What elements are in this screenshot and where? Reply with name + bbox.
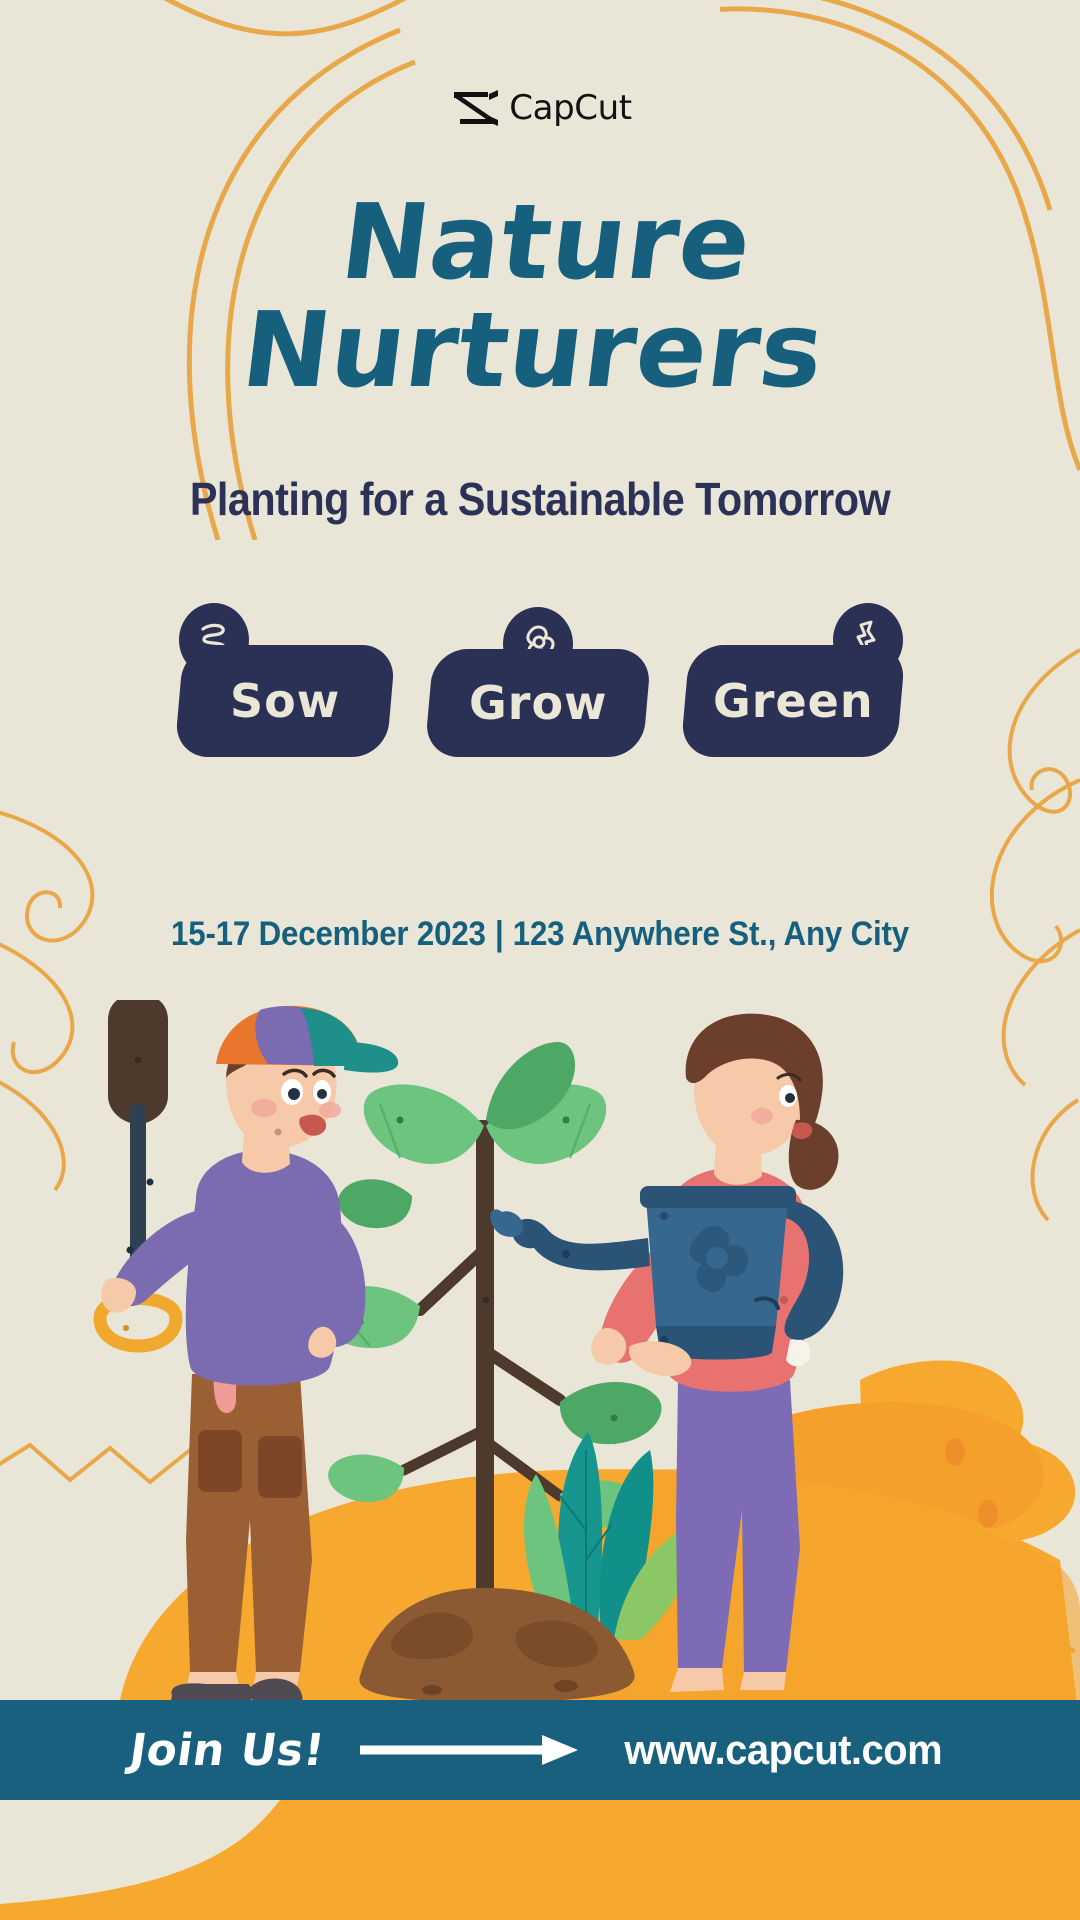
brand-logo-text: CapCut <box>509 88 631 128</box>
feature-pill-grow-label: Grow <box>469 676 608 730</box>
page-title: Nature Nurturers <box>0 192 1080 402</box>
brand-logo: CapCut <box>0 88 1080 128</box>
headline-line-2: Nurturers <box>0 300 1080 402</box>
event-details: 15-17 December 2023|123 Anywhere St., An… <box>43 915 1037 954</box>
event-separator: | <box>486 915 513 953</box>
event-address: 123 Anywhere St., Any City <box>513 915 909 953</box>
feature-pill-sow[interactable]: Sow <box>179 645 391 757</box>
feature-pill-sow-label: Sow <box>230 674 340 728</box>
footer-cta-bar: Join Us! www.capcut.com <box>0 1700 1080 1800</box>
event-dates: 15-17 December 2023 <box>171 915 486 953</box>
feature-pill-green-body[interactable]: Green <box>680 645 906 757</box>
page-subtitle: Planting for a Sustainable Tomorrow <box>54 472 1026 526</box>
headline-line-1: Nature <box>0 192 1080 294</box>
feature-pill-grow[interactable]: Grow <box>429 649 647 757</box>
feature-pill-green-label: Green <box>713 674 874 728</box>
footer-orange-shape <box>0 1800 1080 1920</box>
feature-pill-grow-body[interactable]: Grow <box>424 649 651 757</box>
feature-pill-row: Sow Grow Gr <box>0 645 1080 757</box>
right-arrow-icon <box>360 1733 580 1767</box>
feature-pill-sow-body[interactable]: Sow <box>174 645 396 757</box>
feature-pill-green[interactable]: Green <box>685 645 901 757</box>
join-us-label: Join Us! <box>126 1725 327 1776</box>
website-url[interactable]: www.capcut.com <box>624 1726 942 1774</box>
capcut-hourglass-icon <box>448 88 500 128</box>
poster-canvas: CapCut Nature Nurturers Planting for a S… <box>0 0 1080 1920</box>
planting-illustration <box>0 1000 1080 1730</box>
